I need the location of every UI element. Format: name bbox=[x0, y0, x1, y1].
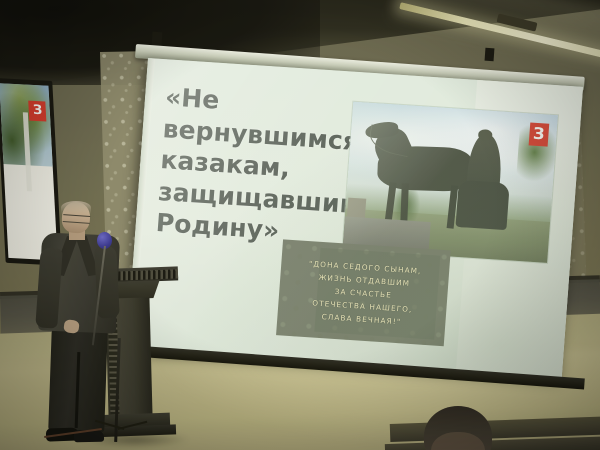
presentation-slide: «Не вернувшимся казакам, защищавшим Роди… bbox=[127, 58, 583, 378]
photo-projection-wash bbox=[343, 102, 558, 263]
slide-monument-photo: З bbox=[343, 102, 558, 263]
screen-bracket-left bbox=[152, 32, 163, 47]
speaker-hair bbox=[61, 201, 91, 214]
screen-surface: «Не вернувшимся казакам, защищавшим Роди… bbox=[127, 58, 583, 378]
secondary-display-logo-icon: З bbox=[29, 100, 47, 121]
screen-bracket-right bbox=[485, 48, 495, 62]
slide-title: «Не вернувшимся казакам, защищавшим Роди… bbox=[155, 81, 371, 252]
slide-quote-plaque: "ДОНА СЕДОГО СЫНАМ, ЖИЗНЬ ОТДАВШИМ ЗА СЧ… bbox=[276, 239, 451, 346]
conference-hall-photo: З «Не вернувшимся казакам, защищавшим Ро… bbox=[0, 0, 600, 450]
